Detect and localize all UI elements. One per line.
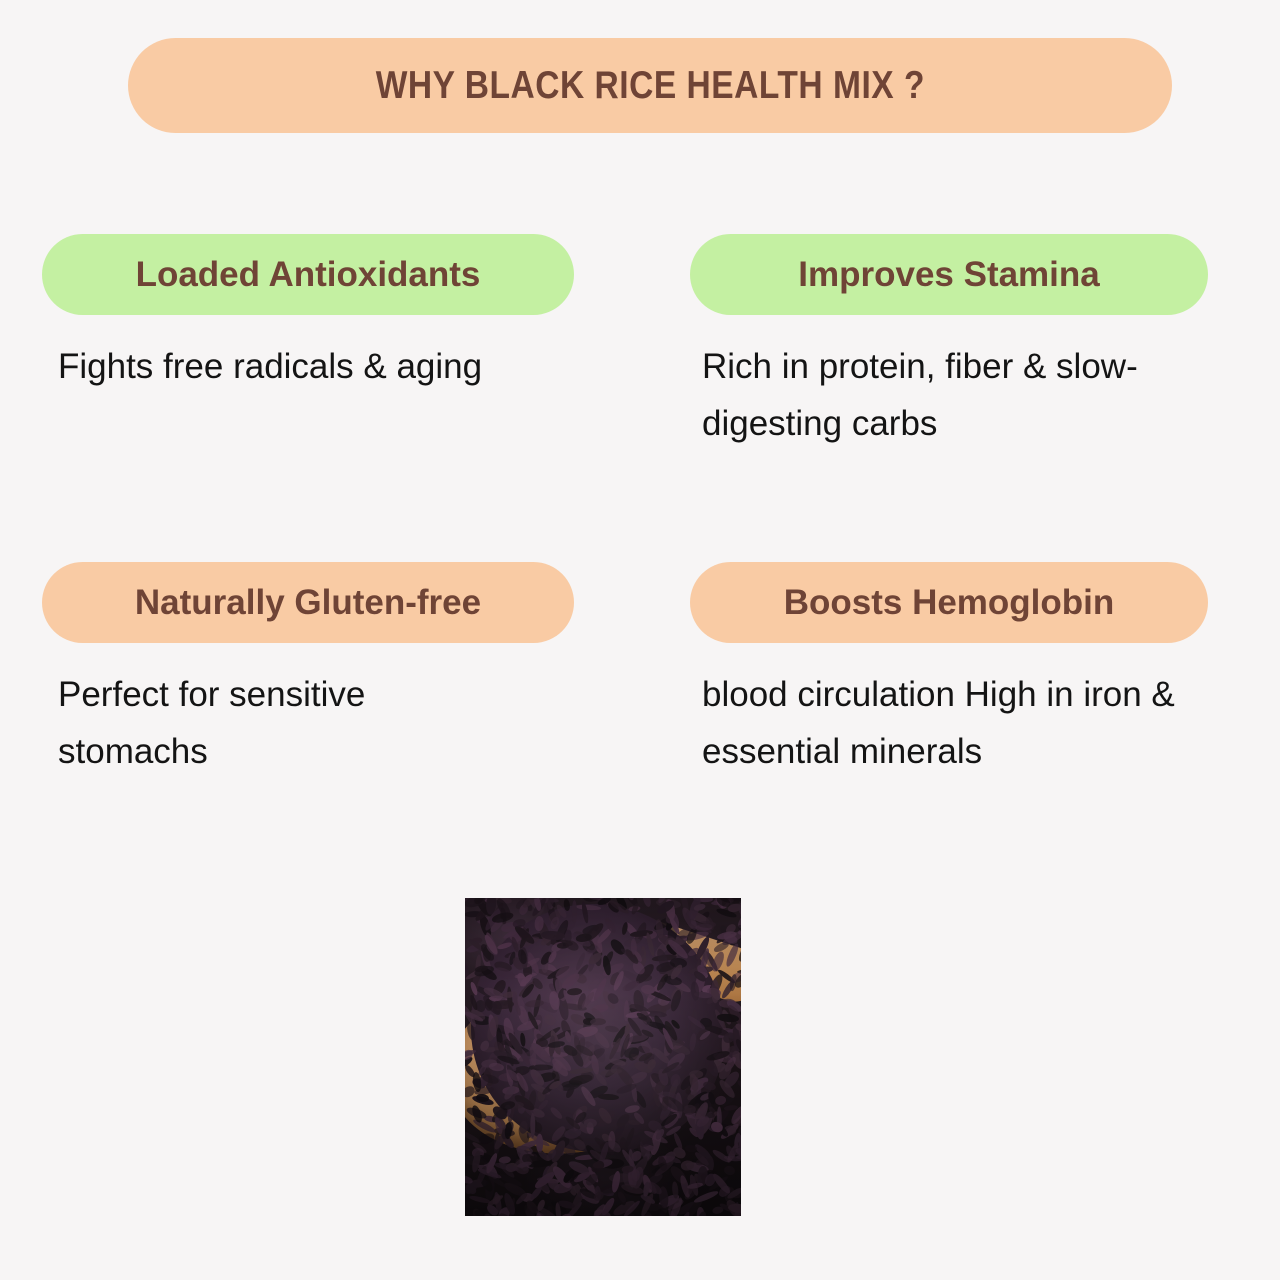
photo-canvas: [465, 898, 741, 1216]
benefit-card-boosts-hemoglobin: Boosts Hemoglobin blood circulation High…: [690, 562, 1280, 780]
page-title: WHY BLACK RICE HEALTH MIX ?: [375, 64, 924, 108]
benefit-label: Loaded Antioxidants: [136, 257, 481, 292]
benefit-card-naturally-gluten-free: Naturally Gluten-free Perfect for sensit…: [0, 562, 690, 780]
benefit-label: Improves Stamina: [798, 257, 1100, 292]
page-title-banner: WHY BLACK RICE HEALTH MIX ?: [128, 38, 1172, 133]
benefit-description: Fights free radicals & aging: [42, 339, 512, 396]
benefit-card-loaded-antioxidants: Loaded Antioxidants Fights free radicals…: [0, 234, 690, 452]
benefit-card-improves-stamina: Improves Stamina Rich in protein, fiber …: [690, 234, 1280, 452]
benefits-grid: Loaded Antioxidants Fights free radicals…: [0, 234, 1280, 781]
benefit-pill-improves-stamina: Improves Stamina: [690, 234, 1208, 315]
benefit-label: Naturally Gluten-free: [135, 585, 481, 620]
benefit-description: Perfect for sensitive stomachs: [42, 667, 512, 780]
benefit-label: Boosts Hemoglobin: [784, 585, 1115, 620]
benefit-pill-boosts-hemoglobin: Boosts Hemoglobin: [690, 562, 1208, 643]
photo-vignette: [465, 898, 741, 1216]
benefit-pill-naturally-gluten-free: Naturally Gluten-free: [42, 562, 574, 643]
benefits-row-2: Naturally Gluten-free Perfect for sensit…: [0, 562, 1280, 780]
benefit-description: blood circulation High in iron & essenti…: [690, 667, 1180, 780]
benefit-description: Rich in protein, fiber & slow-digesting …: [690, 339, 1180, 452]
benefits-row-1: Loaded Antioxidants Fights free radicals…: [0, 234, 1280, 452]
benefit-pill-loaded-antioxidants: Loaded Antioxidants: [42, 234, 574, 315]
black-rice-photo: [465, 898, 741, 1216]
